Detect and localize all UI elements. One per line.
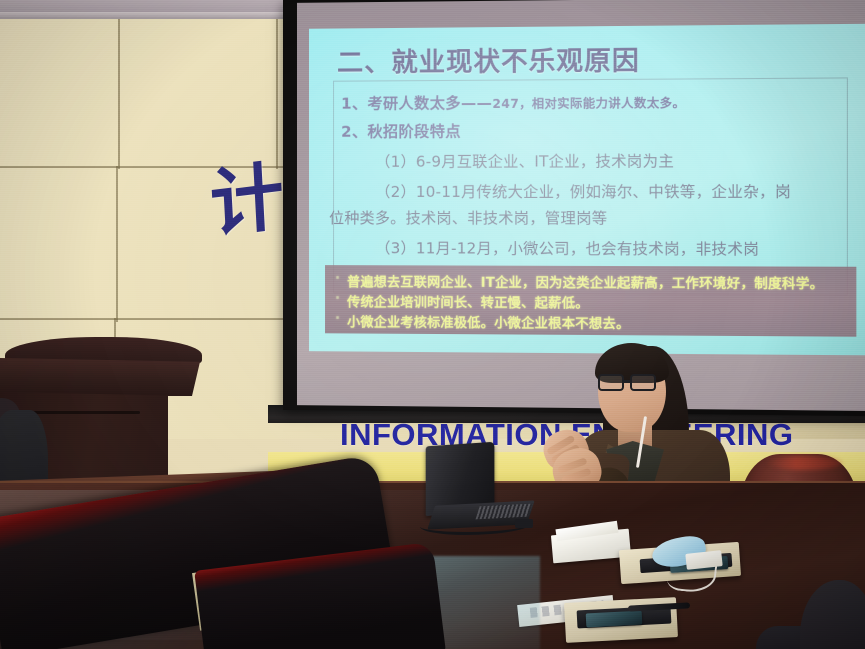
leather-chair-highlight — [766, 456, 842, 470]
wall-seam-horizontal — [0, 318, 283, 320]
slide-highlight-band: · 普遍想去互联网企业、IT企业，因为这类企业起薪高，工作环境好，制度科学。 ·… — [325, 265, 856, 337]
highlight-row-1-text: 普遍想去互联网企业、IT企业，因为这类企业起薪高，工作环境好，制度科学。 — [347, 275, 823, 292]
highlight-row-1: · 普遍想去互联网企业、IT企业，因为这类企业起薪高，工作环境好，制度科学。 — [335, 271, 823, 292]
projection-screen-surface: 二、就业现状不乐观原因 1、考研人数太多——247，相对实际能力讲人数太多。 2… — [297, 0, 865, 411]
highlight-row-3-text: 小微企业考核标准极低。小微企业根本不想去。 — [347, 315, 630, 332]
wall-seam-vertical — [276, 19, 278, 169]
presentation-slide: 二、就业现状不乐观原因 1、考研人数太多——247，相对实际能力讲人数太多。 2… — [309, 24, 865, 356]
highlight-bullet-icon: · — [335, 291, 340, 306]
wall-seam-vertical — [116, 166, 118, 322]
wall-seam-vertical — [118, 19, 120, 169]
slide-title: 二、就业现状不乐观原因 — [337, 40, 640, 80]
slide-bullet-1: 1、考研人数太多——247，相对实际能力讲人数太多。 — [341, 91, 685, 114]
highlight-row-3: · 小微企业考核标准极低。小微企业根本不想去。 — [335, 311, 630, 332]
slide-bullet-1-lead: 1、考研人数太多—— — [341, 94, 492, 113]
slide-bullet-1-number: 247 — [492, 97, 519, 111]
eyeglass-lens-right — [630, 374, 656, 391]
slide-sub-bullet-2: （2）10-11月传统大企业，例如海尔、中铁等，企业杂，岗 — [375, 180, 791, 202]
slide-bullet-1-tail: ，相对实际能力讲人数太多。 — [519, 96, 685, 111]
eyeglass-lens-left — [598, 374, 624, 391]
wall-painted-character: 计 — [208, 154, 284, 249]
highlight-row-2-text: 传统企业培训时间长、转正慢、起薪低。 — [347, 295, 589, 311]
projection-screen-frame: 二、就业现状不乐观原因 1、考研人数太多——247，相对实际能力讲人数太多。 2… — [283, 0, 865, 416]
highlight-row-2: · 传统企业培训时间长、转正慢、起薪低。 — [335, 291, 589, 311]
slide-sub-bullet-1: （1）6-9月互联企业、IT企业，技术岗为主 — [375, 150, 674, 172]
laptop-plug — [515, 519, 533, 528]
smartphone-lower — [586, 611, 643, 628]
podium-shadow-line — [20, 411, 140, 414]
podium-cap — [0, 358, 200, 396]
highlight-bullet-icon: · — [335, 311, 340, 326]
conference-room-photo: 计 INFORMATION ENGINEERING 二、就业现状不乐观原因 1、… — [0, 0, 865, 649]
slide-sub-bullet-2-cont: 位种类多。技术岗、非技术岗，管理岗等 — [329, 207, 607, 228]
speaker-eyeglasses — [597, 374, 663, 392]
slide-bullet-2: 2、秋招阶段特点 — [341, 120, 461, 142]
slide-sub-bullet-3: （3）11月-12月，小微公司，也会有技术岗，非技术岗 — [375, 237, 759, 259]
highlight-bullet-icon: · — [335, 271, 340, 286]
